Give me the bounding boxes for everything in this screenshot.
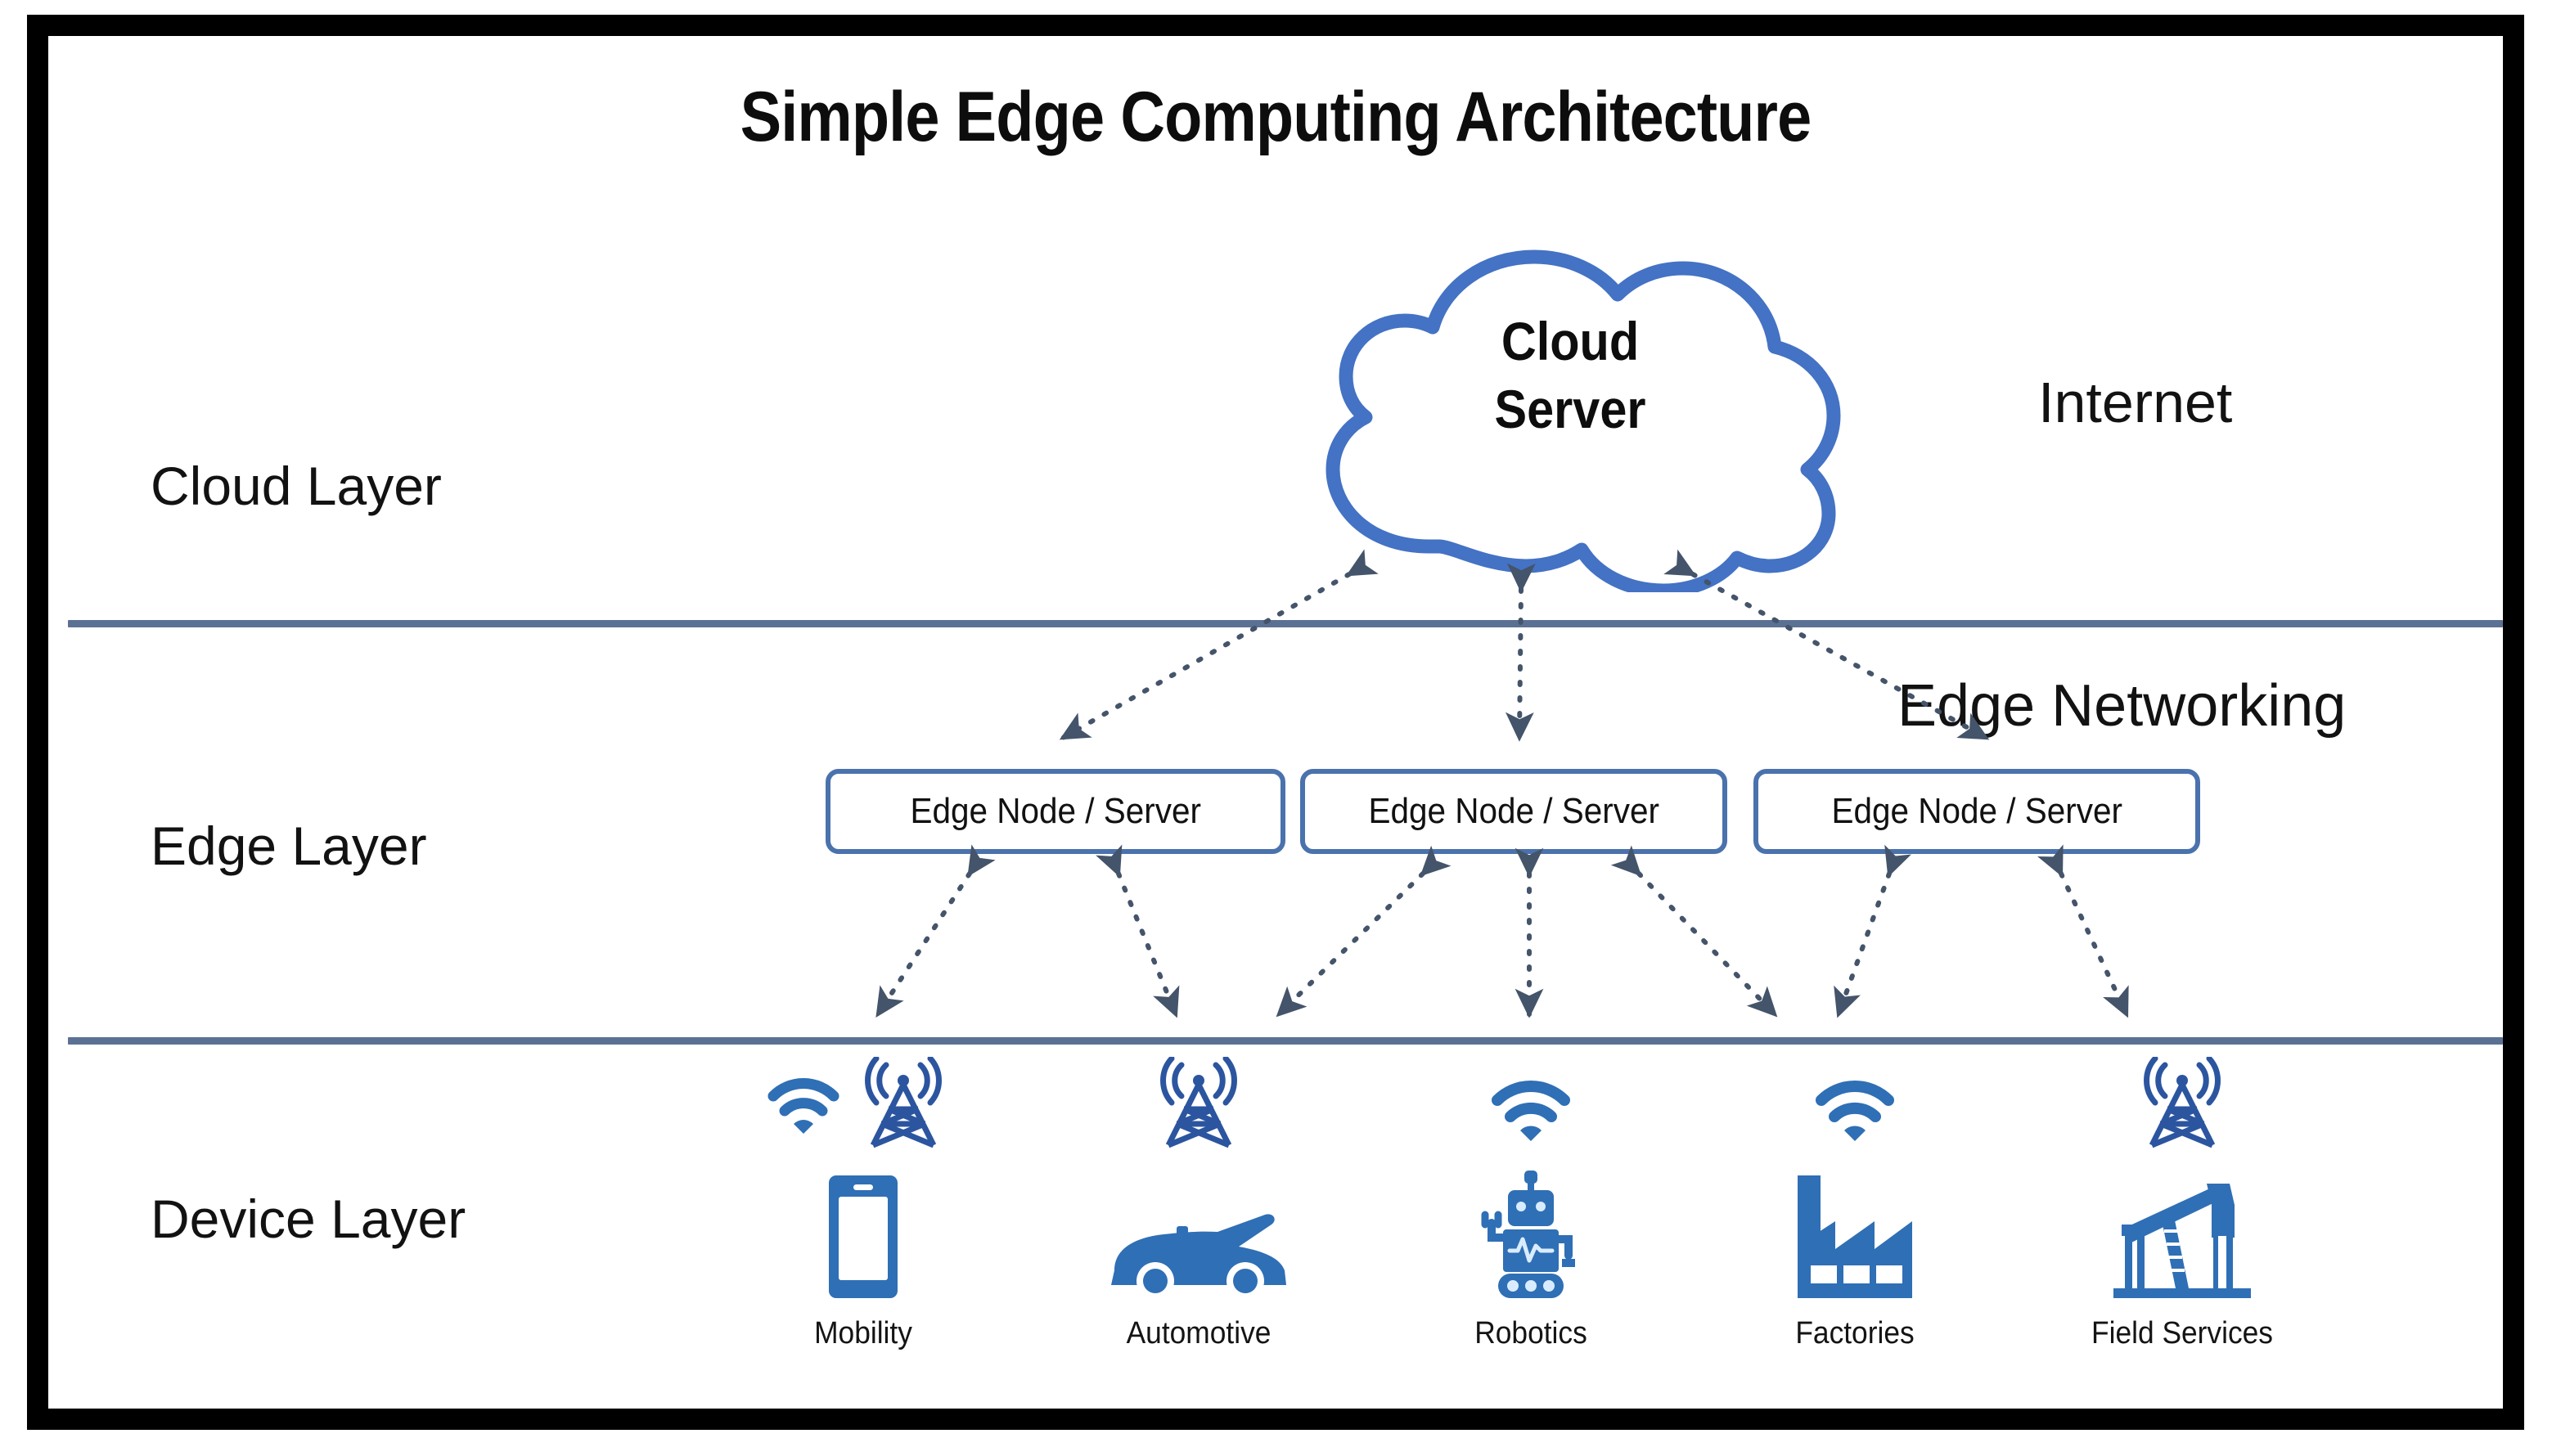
device-group-automotive[interactable]: Automotive bbox=[1068, 1058, 1330, 1351]
edge-node-2-label: Edge Node / Server bbox=[1831, 791, 2122, 832]
wifi-icon bbox=[1490, 1078, 1572, 1148]
wifi-icon bbox=[1814, 1078, 1896, 1148]
device-0-label: Mobility bbox=[741, 1316, 985, 1351]
divider-cloud-edge bbox=[68, 620, 2503, 627]
edge-node-2[interactable]: Edge Node / Server bbox=[1753, 769, 2200, 854]
edge-node-1-label: Edge Node / Server bbox=[1368, 791, 1659, 832]
radio-tower-icon bbox=[1150, 1057, 1247, 1153]
wifi-icon bbox=[767, 1076, 840, 1139]
edge-node-0[interactable]: Edge Node / Server bbox=[826, 769, 1285, 854]
arrow-edge-node-0-to-device-0 bbox=[878, 874, 970, 1014]
arrow-cloud-to-edge-node-0 bbox=[1063, 574, 1349, 738]
device-group-robotics[interactable]: Robotics bbox=[1400, 1058, 1662, 1351]
annotation-edge-networking: Edge Networking bbox=[1897, 672, 2346, 739]
cloud-server-node[interactable]: Cloud Server bbox=[1243, 232, 1897, 592]
device-1-connectivity-icons bbox=[1068, 1058, 1330, 1153]
arrow-edge-node-2-to-device-3 bbox=[1839, 874, 1889, 1014]
device-group-factories[interactable]: Factories bbox=[1724, 1058, 1986, 1351]
diagram-content: Simple Edge Computing Architecture Cloud… bbox=[48, 36, 2503, 1409]
annotation-internet: Internet bbox=[2038, 370, 2232, 435]
smartphone-icon bbox=[732, 1162, 994, 1301]
oil-pumpjack-icon bbox=[2051, 1162, 2313, 1301]
device-4-connectivity-icons bbox=[2051, 1058, 2313, 1153]
device-3-label: Factories bbox=[1733, 1316, 1977, 1351]
cloud-label-line2: Server bbox=[1276, 375, 1865, 443]
arrow-edge-node-1-to-device-1 bbox=[1279, 874, 1423, 1014]
device-3-connectivity-icons bbox=[1724, 1058, 1986, 1153]
arrow-cloud-to-edge-node-1 bbox=[1519, 589, 1521, 738]
device-1-label: Automotive bbox=[1077, 1316, 1321, 1351]
device-group-mobility[interactable]: Mobility bbox=[732, 1058, 994, 1351]
device-2-connectivity-icons bbox=[1400, 1058, 1662, 1153]
divider-edge-device bbox=[68, 1037, 2503, 1045]
layer-label-device: Device Layer bbox=[151, 1188, 466, 1250]
device-group-field-services[interactable]: Field Services bbox=[2051, 1058, 2313, 1351]
factory-icon bbox=[1724, 1162, 1986, 1301]
car-icon bbox=[1068, 1162, 1330, 1301]
cloud-label-line1: Cloud bbox=[1276, 308, 1865, 375]
page-title: Simple Edge Computing Architecture bbox=[196, 77, 2356, 158]
device-2-label: Robotics bbox=[1409, 1316, 1653, 1351]
layer-label-cloud: Cloud Layer bbox=[151, 455, 442, 517]
device-0-connectivity-icons bbox=[732, 1058, 994, 1153]
layer-label-edge: Edge Layer bbox=[151, 815, 427, 877]
arrow-edge-node-1-to-device-3 bbox=[1639, 874, 1775, 1014]
arrow-edge-node-2-to-device-4 bbox=[2061, 874, 2127, 1014]
radio-tower-icon bbox=[2134, 1057, 2230, 1153]
edge-node-0-label: Edge Node / Server bbox=[910, 791, 1201, 832]
diagram-canvas: Simple Edge Computing Architecture Cloud… bbox=[0, 0, 2552, 1456]
cloud-label: Cloud Server bbox=[1276, 308, 1865, 443]
device-4-label: Field Services bbox=[2060, 1316, 2304, 1351]
robot-icon bbox=[1400, 1162, 1662, 1301]
edge-node-1[interactable]: Edge Node / Server bbox=[1300, 769, 1727, 854]
radio-tower-icon bbox=[855, 1057, 952, 1153]
arrow-edge-node-0-to-device-1 bbox=[1118, 874, 1176, 1014]
